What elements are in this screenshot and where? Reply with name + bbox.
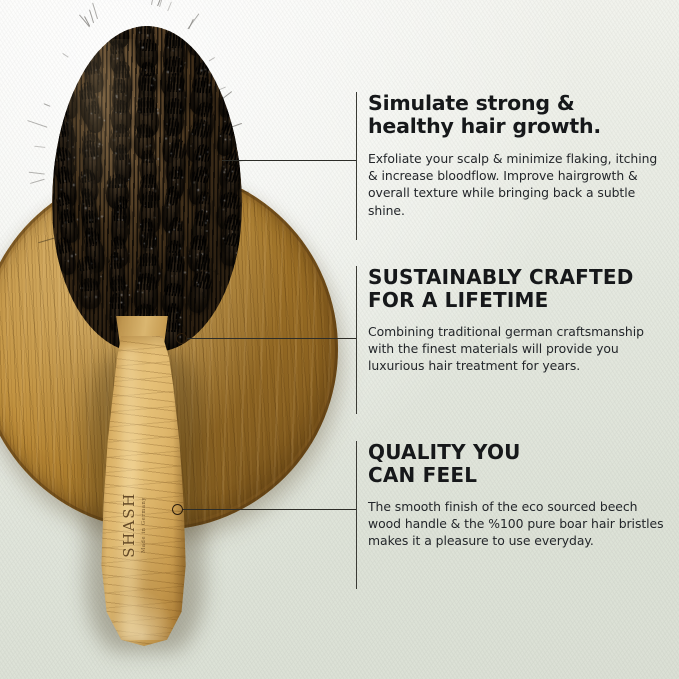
stray-bristle [92, 2, 98, 19]
leader-line-2 [186, 338, 356, 339]
stray-bristle [159, 0, 164, 8]
feature-heading-3: QUALITY YOU CAN FEEL [368, 441, 668, 487]
feature-heading-1: Simulate strong & healthy hair growth. [368, 92, 668, 139]
stray-bristle [230, 188, 250, 193]
feature-body-3: The smooth finish of the eco sourced bee… [368, 498, 668, 550]
stray-bristle [38, 238, 55, 244]
stray-bristle [209, 269, 219, 275]
feature-heading-2-line-1: SUSTAINABLY CRAFTED [368, 266, 673, 289]
leader-dot-2 [176, 333, 187, 344]
feature-heading-3-line-2: CAN FEEL [368, 464, 668, 487]
stray-bristle [29, 171, 45, 174]
stray-bristle [230, 184, 239, 187]
leader-line-3 [182, 509, 356, 510]
feature-heading-1-line-2: healthy hair growth. [368, 115, 668, 138]
feature-body-1: Exfoliate your scalp & minimize flaking,… [368, 150, 668, 219]
feature-block-2: SUSTAINABLY CRAFTED FOR A LIFETIME Combi… [368, 266, 673, 375]
feature-heading-2-line-2: FOR A LIFETIME [368, 289, 673, 312]
stray-bristle [167, 2, 172, 12]
stray-bristle [151, 0, 156, 5]
feature-heading-1-line-1: Simulate strong & [368, 92, 668, 115]
stray-bristle [188, 18, 194, 29]
block-rule-2 [356, 266, 357, 414]
stray-bristle [62, 52, 69, 57]
infographic-canvas: SHASH Made in Germany Simulate strong & … [0, 0, 679, 679]
stray-bristle [209, 57, 216, 62]
leader-line-1 [222, 160, 356, 161]
stray-bristle [228, 123, 242, 129]
stray-bristle [231, 163, 240, 165]
feature-heading-3-line-1: QUALITY YOU [368, 441, 668, 464]
feature-body-2: Combining traditional german craftsmansh… [368, 323, 673, 375]
stray-bristle [44, 103, 51, 107]
stray-bristle [89, 9, 94, 22]
handle-tip-highlight [109, 590, 176, 640]
feature-block-1: Simulate strong & healthy hair growth. E… [368, 92, 668, 219]
stray-bristle [177, 313, 187, 332]
stray-bristle [225, 222, 240, 233]
block-rule-3 [356, 441, 357, 589]
stray-bristle [220, 86, 227, 90]
feature-heading-2: SUSTAINABLY CRAFTED FOR A LIFETIME [368, 266, 673, 312]
block-rule-1 [356, 92, 357, 240]
feature-block-3: QUALITY YOU CAN FEEL The smooth finish o… [368, 441, 668, 550]
stray-bristle [27, 119, 48, 127]
stray-bristle [34, 145, 45, 147]
stray-bristle [30, 178, 45, 183]
stray-bristle [222, 92, 232, 100]
leader-dot-3 [172, 504, 183, 515]
stray-bristle [226, 218, 235, 220]
